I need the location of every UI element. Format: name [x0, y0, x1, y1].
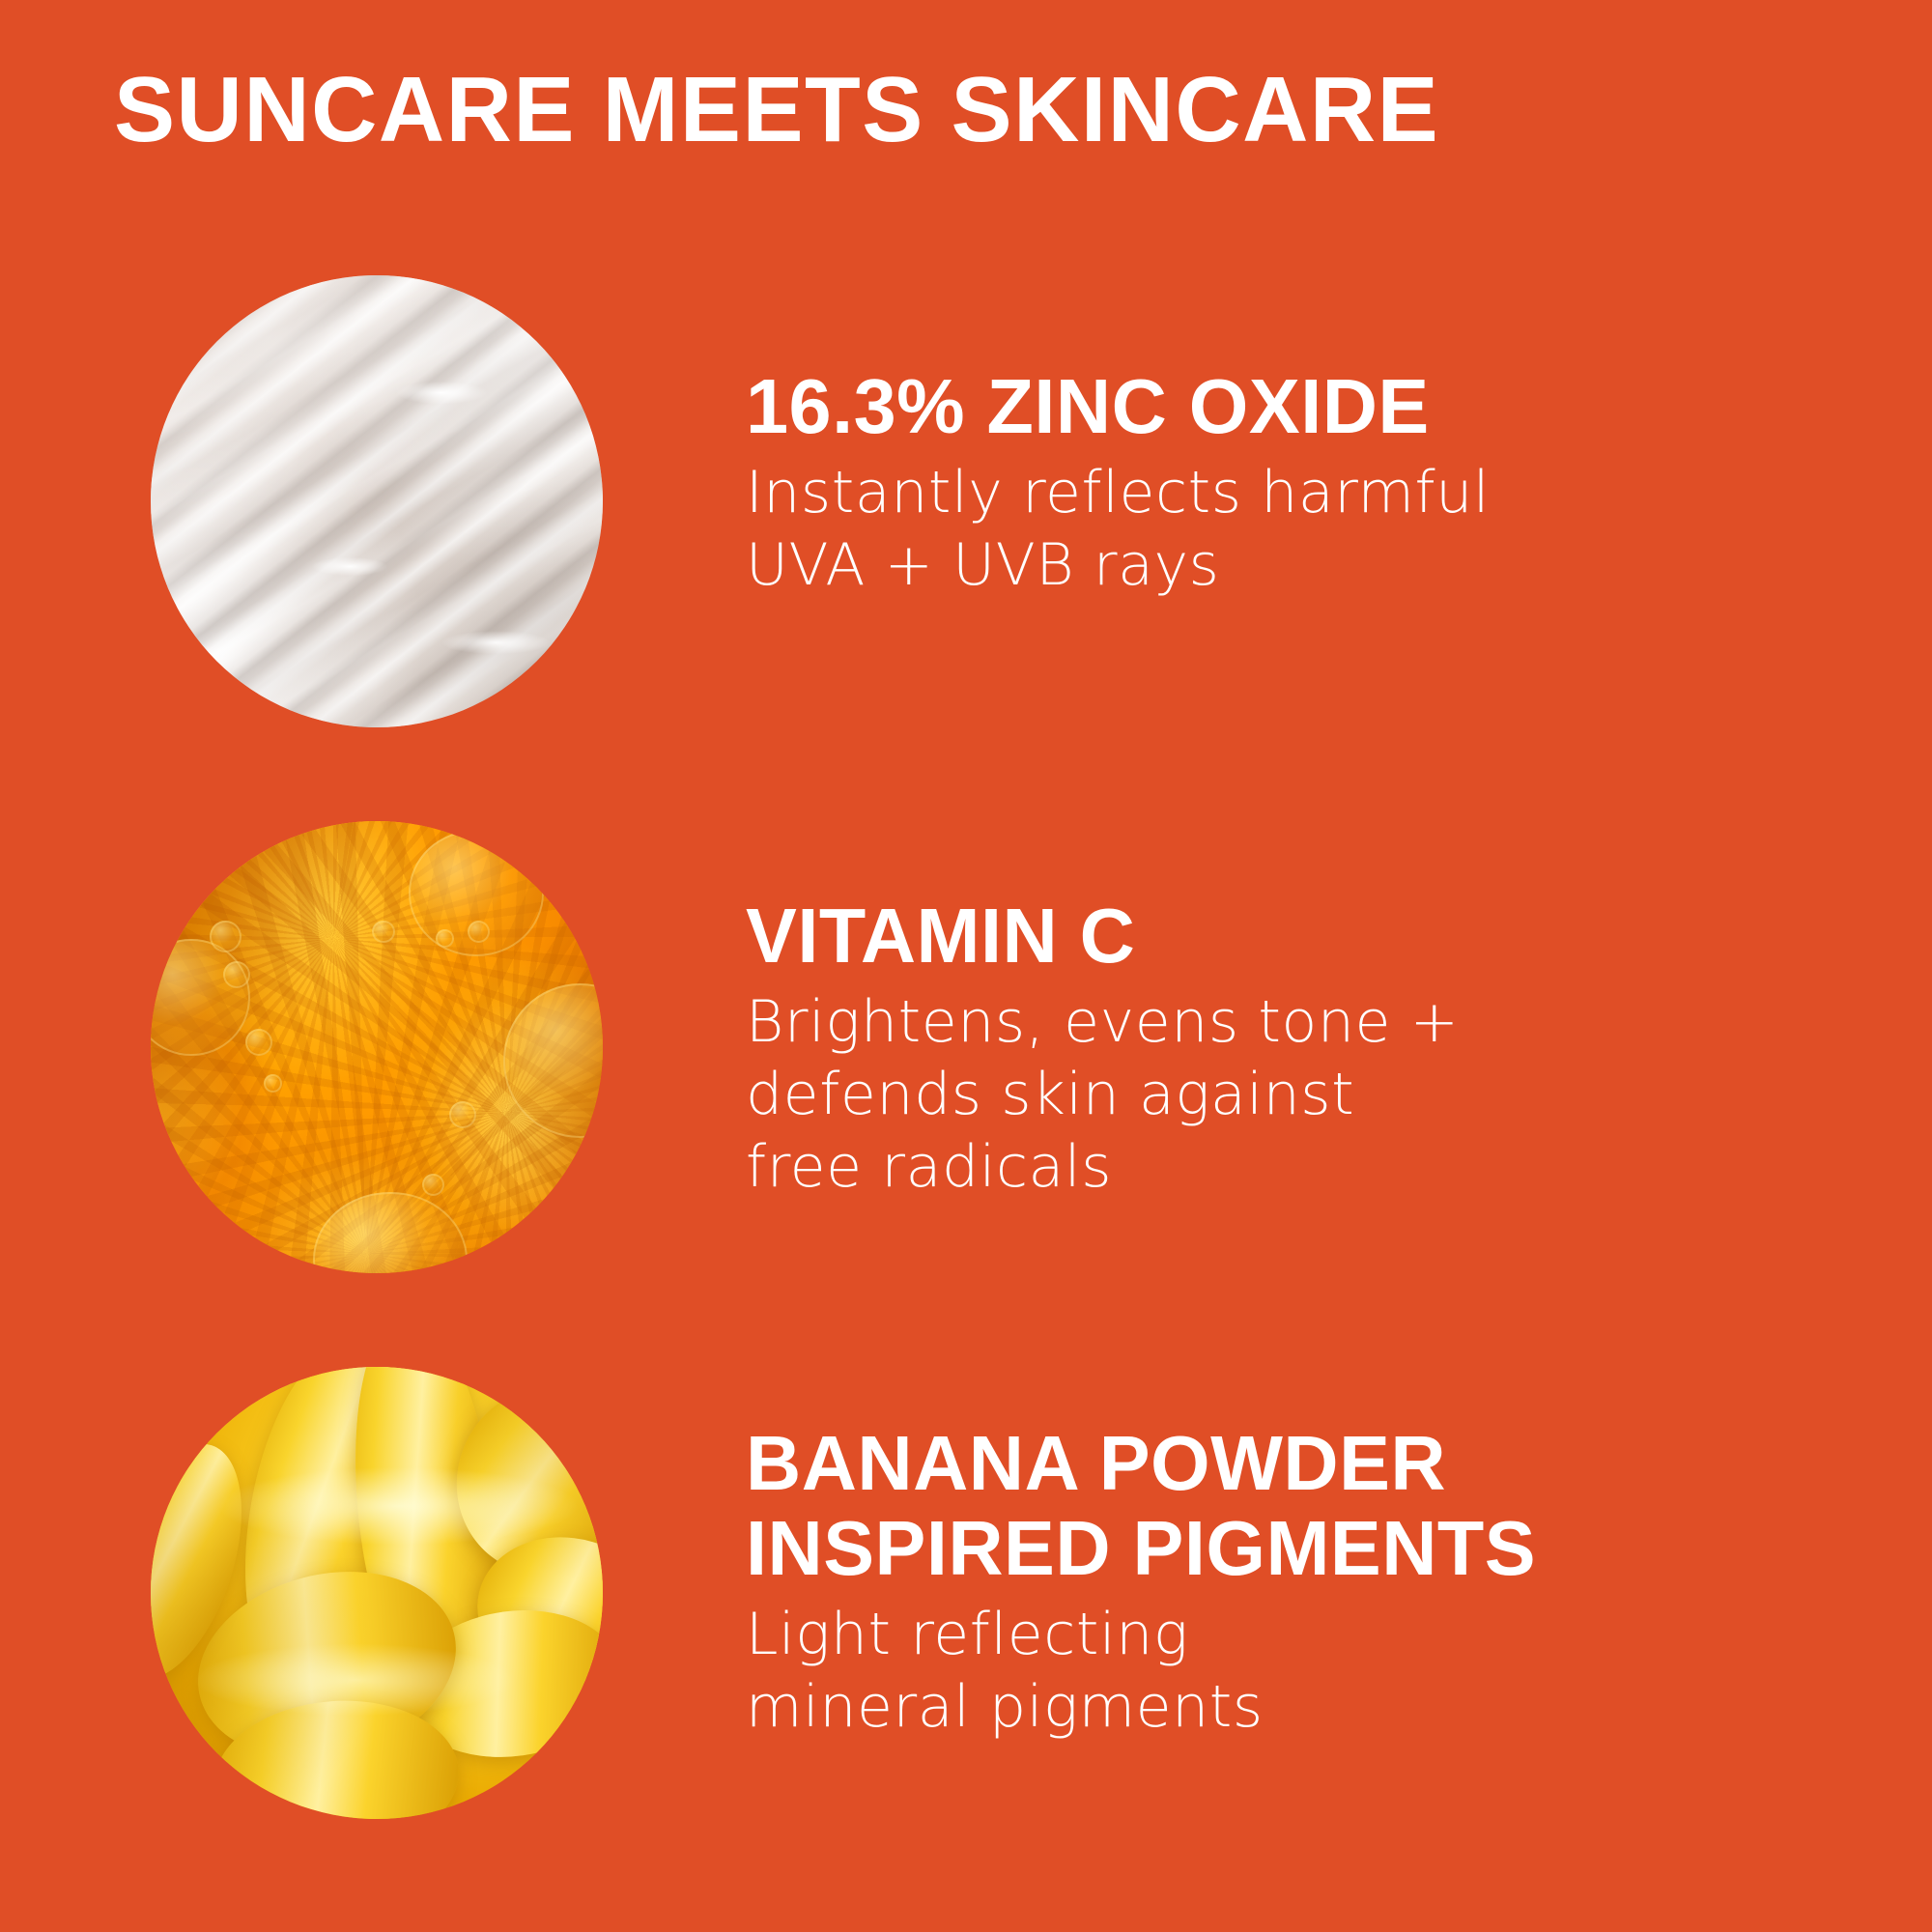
gel-bubble [223, 961, 250, 988]
vitamin-c-citrus-swatch [151, 821, 603, 1273]
gel-bubble [449, 1101, 476, 1128]
feature-body: Light reflecting mineral pigments [746, 1599, 1886, 1744]
feature-heading: 16.3% ZINC OXIDE [746, 364, 1874, 449]
cream-gloss-highlights [151, 275, 603, 727]
banana-highlight-overlay [151, 1367, 603, 1819]
feature-body: Brightens, evens tone + defends skin aga… [746, 986, 1886, 1204]
zinc-oxide-cream-swatch [151, 275, 603, 727]
gel-bubble [436, 929, 454, 948]
suncare-infographic-poster: SUNCARE MEETS SKINCARE 16.3% ZINC OXIDE … [0, 0, 1932, 1932]
gel-bubble [372, 921, 394, 943]
feature-text-zinc-oxide: 16.3% ZINC OXIDE Instantly reflects harm… [746, 364, 1886, 602]
feature-text-vitamin-c: VITAMIN C Brightens, evens tone + defend… [746, 894, 1886, 1204]
feature-text-banana-powder: BANANA POWDER INSPIRED PIGMENTS Light re… [746, 1421, 1886, 1744]
feature-heading: BANANA POWDER INSPIRED PIGMENTS [746, 1421, 1874, 1591]
banana-powder-swatch [151, 1367, 603, 1819]
feature-heading: VITAMIN C [746, 894, 1874, 979]
gel-bubble [210, 921, 241, 952]
feature-body: Instantly reflects harmful UVA + UVB ray… [746, 457, 1886, 602]
gel-bubble [264, 1074, 282, 1093]
page-title: SUNCARE MEETS SKINCARE [114, 60, 1827, 160]
